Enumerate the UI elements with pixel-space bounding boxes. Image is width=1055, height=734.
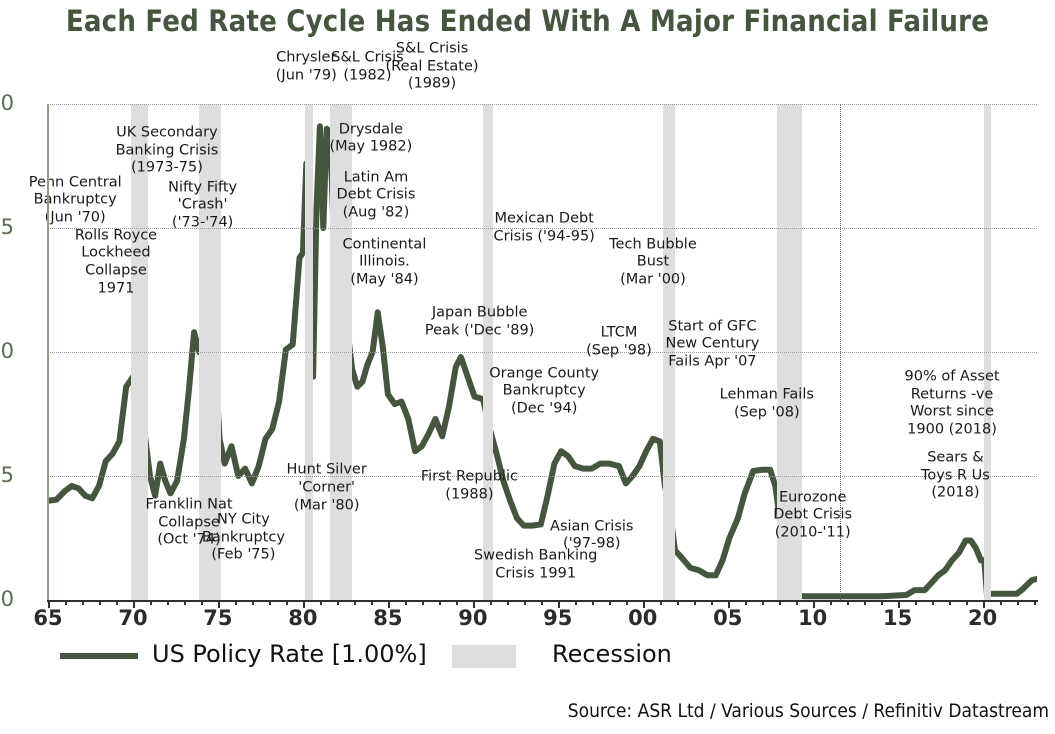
x-tick-mark — [728, 600, 730, 608]
x-tick-mark-minor — [541, 600, 543, 605]
x-tick-mark-minor — [796, 600, 798, 605]
y-axis-line — [47, 104, 49, 601]
x-tick-mark-minor — [320, 600, 322, 605]
x-tick-mark-minor — [915, 600, 917, 605]
y-tick-label: 10 — [0, 339, 14, 363]
x-tick-mark-minor — [184, 600, 186, 605]
x-tick-mark-minor — [677, 600, 679, 605]
legend-series-label: US Policy Rate [1.00%] — [152, 640, 427, 668]
y-tick-label: 20 — [0, 91, 14, 115]
chart-annotation: Drysdale (May 1982) — [329, 121, 412, 156]
x-tick-mark-minor — [762, 600, 764, 605]
chart-annotation: NY City Bankruptcy (Feb '75) — [202, 511, 285, 564]
x-tick-mark-minor — [235, 600, 237, 605]
x-tick-mark-minor — [82, 600, 84, 605]
x-tick-mark-minor — [150, 600, 152, 605]
chart-annotation: 90% of Asset Returns -ve Worst since 190… — [905, 369, 1000, 440]
x-tick-mark-minor — [286, 600, 288, 605]
x-tick-mark-minor — [490, 600, 492, 605]
x-tick-mark-minor — [1034, 600, 1036, 605]
gridline-top — [48, 104, 1037, 105]
x-tick-mark-minor — [847, 600, 849, 605]
x-tick-mark-minor — [830, 600, 832, 605]
chart-annotation: Hunt Silver 'Corner' (Mar '80) — [287, 462, 367, 515]
x-tick-mark-minor — [881, 600, 883, 605]
x-tick-label: 00 — [613, 606, 673, 630]
gridline-horizontal — [48, 476, 1037, 477]
legend-recession-label: Recession — [552, 640, 672, 668]
x-tick-mark-minor — [1000, 600, 1002, 605]
x-tick-mark-minor — [337, 600, 339, 605]
x-tick-mark-minor — [609, 600, 611, 605]
x-tick-mark-minor — [439, 600, 441, 605]
x-tick-mark-minor — [269, 600, 271, 605]
x-tick-mark-minor — [779, 600, 781, 605]
x-tick-mark — [48, 600, 50, 608]
x-tick-mark — [643, 600, 645, 608]
x-tick-label: 65 — [18, 606, 78, 630]
x-tick-mark — [388, 600, 390, 608]
x-tick-mark-minor — [949, 600, 951, 605]
x-tick-mark-minor — [694, 600, 696, 605]
x-tick-mark — [218, 600, 220, 608]
chart-annotation: Tech Bubble Bust (Mar '00) — [609, 236, 697, 289]
x-tick-mark — [983, 600, 985, 608]
x-tick-mark-minor — [592, 600, 594, 605]
x-tick-mark-minor — [507, 600, 509, 605]
x-tick-mark-minor — [966, 600, 968, 605]
x-tick-mark-minor — [371, 600, 373, 605]
chart-annotation: Rolls Royce Lockheed Collapse 1971 — [75, 227, 157, 298]
x-tick-mark — [898, 600, 900, 608]
x-tick-label: 80 — [273, 606, 333, 630]
chart-annotation: Lehman Fails (Sep '08) — [720, 386, 814, 421]
x-tick-mark-minor — [660, 600, 662, 605]
x-tick-label: 10 — [783, 606, 843, 630]
chart-annotation: First Republic (1988) — [421, 468, 518, 503]
chart-annotation: Penn Central Bankruptcy (Jun '70) — [29, 174, 122, 227]
chart-annotation: Orange County Bankruptcy (Dec '94) — [489, 365, 599, 418]
legend-recession-swatch — [452, 645, 516, 668]
x-tick-mark-minor — [575, 600, 577, 605]
x-tick-mark-minor — [405, 600, 407, 605]
chart-annotation: Asian Crisis ('97-98) — [550, 518, 633, 553]
x-tick-mark-minor — [456, 600, 458, 605]
y-tick-label: 15 — [0, 215, 14, 239]
x-tick-label: 20 — [953, 606, 1013, 630]
x-tick-mark — [303, 600, 305, 608]
chart-title: Each Fed Rate Cycle Has Ended With A Maj… — [0, 4, 1055, 38]
chart-annotation: Chrysler (Jun '79) — [276, 49, 337, 84]
chart-annotation: Latin Am Debt Crisis (Aug '82) — [337, 169, 416, 222]
y-tick-label: 0 — [0, 587, 14, 611]
x-tick-mark-minor — [201, 600, 203, 605]
chart-annotation: S&L Crisis (Real Estate) (1989) — [385, 40, 478, 93]
x-tick-mark-minor — [711, 600, 713, 605]
x-tick-mark-minor — [932, 600, 934, 605]
chart-annotation: LTCM (Sep '98) — [586, 324, 652, 359]
x-tick-mark-minor — [422, 600, 424, 605]
x-tick-label: 70 — [103, 606, 163, 630]
x-tick-label: 85 — [358, 606, 418, 630]
x-tick-mark-minor — [99, 600, 101, 605]
chart-annotation: Mexican Debt Crisis ('94-95) — [494, 210, 595, 245]
chart-annotation: Eurozone Debt Crisis (2010-'11) — [773, 489, 852, 542]
chart-legend: US Policy Rate [1.00%] Recession — [60, 640, 760, 674]
x-tick-mark — [558, 600, 560, 608]
chart-annotation: Nifty Fifty 'Crash' ('73-'74) — [168, 179, 237, 232]
legend-line-swatch — [60, 653, 138, 659]
source-note: Source: ASR Ltd / Various Sources / Refi… — [568, 700, 1049, 722]
x-tick-label: 95 — [528, 606, 588, 630]
x-tick-label: 05 — [698, 606, 758, 630]
y-tick-label: 5 — [0, 463, 14, 487]
x-tick-mark-minor — [864, 600, 866, 605]
x-tick-mark-minor — [626, 600, 628, 605]
chart-annotation: Sears & Toys R Us (2018) — [921, 449, 990, 502]
x-tick-mark — [813, 600, 815, 608]
x-tick-mark-minor — [745, 600, 747, 605]
x-tick-label: 75 — [188, 606, 248, 630]
x-tick-mark — [473, 600, 475, 608]
x-tick-mark-minor — [65, 600, 67, 605]
x-tick-label: 15 — [868, 606, 928, 630]
chart-plot-area: Penn Central Bankruptcy (Jun '70)Rolls R… — [48, 104, 1037, 600]
chart-annotation: Japan Bubble Peak ('Dec '89) — [425, 305, 534, 340]
x-tick-mark-minor — [116, 600, 118, 605]
chart-annotation: UK Secondary Banking Crisis (1973-75) — [116, 125, 219, 178]
x-tick-mark-minor — [167, 600, 169, 605]
x-tick-label: 90 — [443, 606, 503, 630]
x-tick-mark-minor — [252, 600, 254, 605]
gridline-horizontal — [48, 352, 1037, 353]
x-tick-mark-minor — [354, 600, 356, 605]
x-tick-mark — [133, 600, 135, 608]
x-tick-mark-minor — [524, 600, 526, 605]
x-tick-mark-minor — [1017, 600, 1019, 605]
chart-annotation: Start of GFC New Century Fails Apr '07 — [665, 318, 759, 371]
chart-annotation: Continental Illinois. (May '84) — [343, 236, 427, 289]
